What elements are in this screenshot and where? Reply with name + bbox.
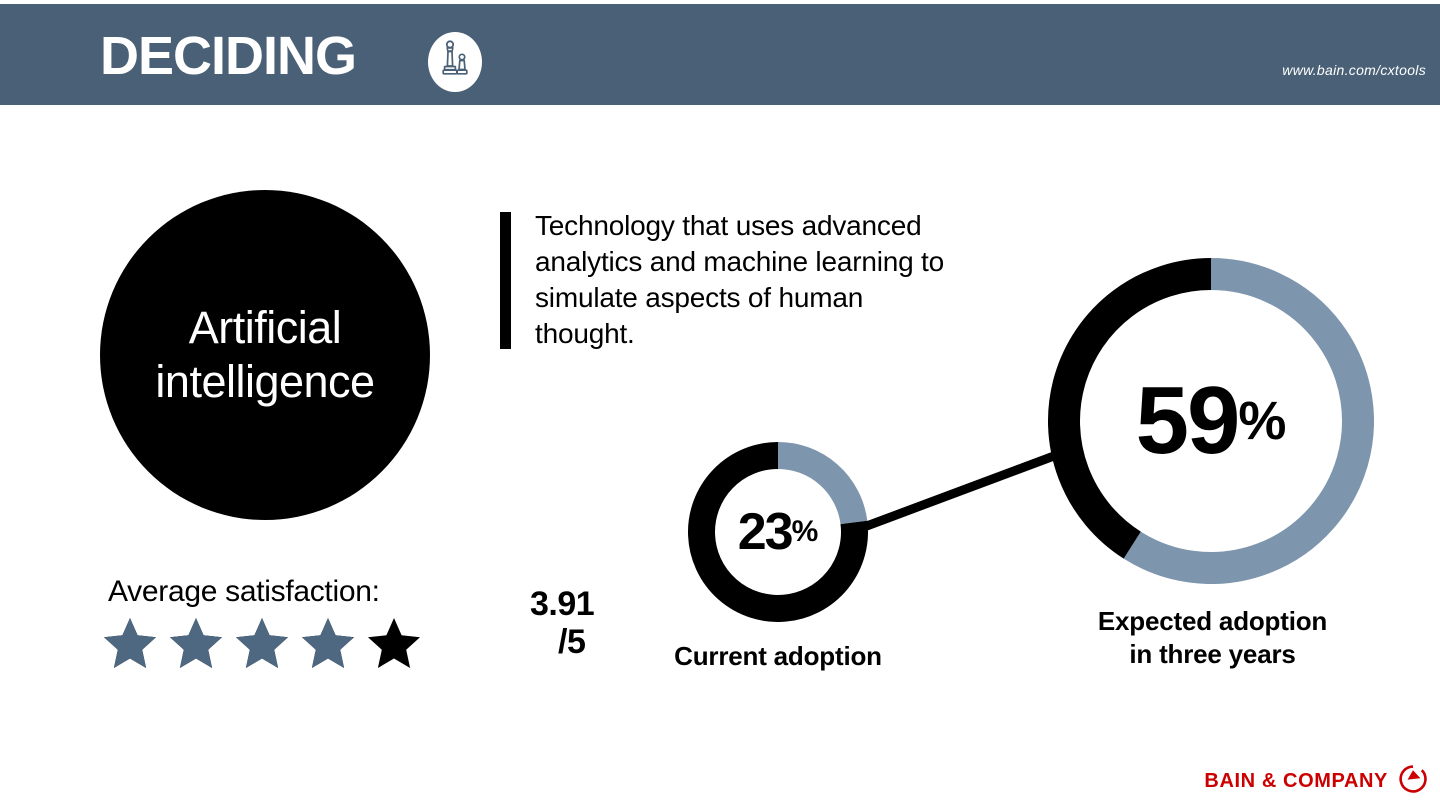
donut-expected-caption: Expected adoption in three years bbox=[1055, 605, 1370, 671]
satisfaction-score-denominator: /5 bbox=[558, 623, 585, 662]
donut-current-caption: Current adoption bbox=[638, 640, 918, 673]
donut-chart-expected-adoption: 59 % bbox=[1048, 258, 1374, 584]
page-title: DECIDING bbox=[100, 26, 356, 86]
donut-current-value: 23 bbox=[738, 506, 792, 558]
satisfaction-score-value: 3.91 bbox=[530, 585, 594, 624]
bain-wordmark: BAIN & COMPANY bbox=[1204, 770, 1388, 793]
donut-expected-percent-symbol: % bbox=[1238, 394, 1286, 448]
bain-circle-logo-icon bbox=[1398, 764, 1428, 799]
bain-logo: BAIN & COMPANY bbox=[1204, 764, 1428, 799]
star-icon bbox=[364, 615, 424, 673]
donut-chart-current-adoption: 23 % bbox=[688, 442, 868, 622]
description-text: Technology that uses advanced analytics … bbox=[535, 208, 965, 352]
star-icon bbox=[166, 615, 226, 673]
header-bar: DECIDING www.bain.com/cxtools bbox=[0, 4, 1440, 105]
donut-expected-value: 59 bbox=[1136, 373, 1239, 469]
star-icon bbox=[100, 615, 160, 673]
star-icon bbox=[232, 615, 292, 673]
chess-pieces-icon bbox=[438, 40, 472, 85]
star-icon bbox=[298, 615, 358, 673]
donut-current-center: 23 % bbox=[688, 442, 868, 622]
chess-pieces-icon-badge bbox=[428, 32, 482, 92]
donut-expected-center: 59 % bbox=[1048, 258, 1374, 584]
concept-name: Artificial intelligence bbox=[155, 301, 374, 409]
concept-circle: Artificial intelligence bbox=[100, 190, 430, 520]
donut-current-percent-symbol: % bbox=[792, 517, 819, 547]
description-accent-bar bbox=[500, 212, 511, 349]
site-url[interactable]: www.bain.com/cxtools bbox=[1282, 62, 1426, 78]
satisfaction-label: Average satisfaction: bbox=[108, 575, 380, 609]
star-rating bbox=[100, 615, 424, 673]
